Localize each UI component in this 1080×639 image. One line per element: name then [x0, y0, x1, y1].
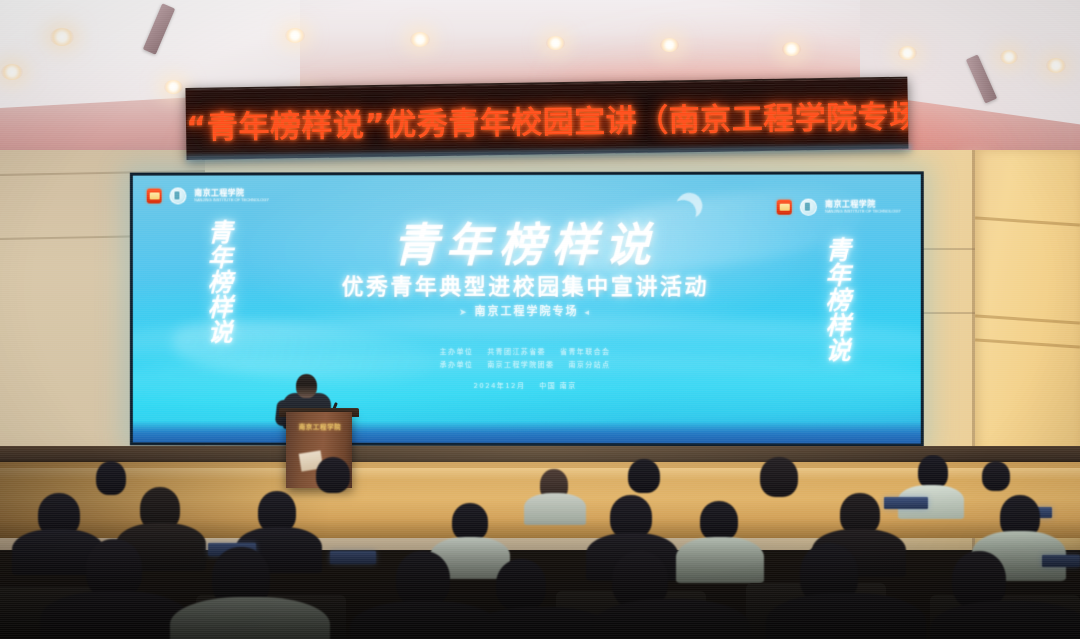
screen-venue-line: ➤南京工程学院专场◂: [133, 303, 921, 319]
organizer-value-2: 南京工程学院团委: [487, 361, 554, 369]
led-banner-text: “青年榜样说”优秀青年校园宣讲（南京工程学院专场）: [186, 91, 909, 147]
organizer-label-2: 承办单位: [440, 361, 474, 369]
audience-shoulder: [40, 591, 190, 639]
audience-head: [396, 551, 450, 607]
audience-head: [700, 501, 738, 541]
audience-area: [0, 455, 1080, 639]
screen-venue-text: 南京工程学院专场: [475, 305, 579, 318]
wall-panel-seam: [918, 248, 978, 250]
screen-organizer-line-2: 承办单位南京工程学院团委南京分站点: [133, 360, 921, 371]
audience-head: [628, 459, 660, 493]
organizer-value-1c: 省青年联合会: [560, 348, 610, 356]
ceiling-downlight: [50, 28, 74, 46]
audience-head: [316, 457, 350, 493]
screen-date-line: 2024年12月中国 南京: [133, 381, 921, 392]
audience-shoulder: [170, 597, 330, 639]
event-date: 2024年12月: [473, 382, 525, 390]
podium-nameplate: 南京工程学院: [296, 422, 344, 432]
youth-league-emblem-icon: [147, 189, 162, 204]
audience-head: [96, 461, 126, 495]
audience-laptop: [1042, 555, 1080, 567]
university-wordmark: 南京工程学院 NANJING INSTITUTE OF TECHNOLOGY: [194, 190, 269, 203]
audience-shoulder: [766, 593, 926, 639]
organizer-label-1: 主办单位: [440, 348, 474, 356]
lecture-hall-scene: “青年榜样说”优秀青年校园宣讲（南京工程学院专场） 南京工程学院 NANJING…: [0, 0, 1080, 639]
speaker-head: [296, 374, 317, 398]
ceiling-downlight: [1046, 58, 1066, 73]
organizer-value-2c: 南京分站点: [568, 361, 610, 369]
ceiling-downlight: [410, 32, 430, 47]
ceiling-downlight: [546, 36, 565, 50]
ceiling-downlight: [1000, 50, 1018, 64]
arrow-left-icon: ➤: [453, 308, 475, 318]
ceiling-downlight: [782, 42, 801, 56]
audience-laptop: [884, 497, 928, 509]
ceiling-downlight: [898, 46, 917, 60]
ceiling-downlight: [285, 28, 305, 43]
university-seal-icon: [170, 187, 187, 204]
audience-head: [86, 539, 142, 599]
wall-panel-seam: [975, 216, 1080, 226]
audience-shoulder: [676, 537, 764, 583]
organizer-value-1: 共青团江苏省委: [487, 348, 546, 356]
screen-logo-left: 南京工程学院 NANJING INSTITUTE OF TECHNOLOGY: [147, 187, 269, 204]
main-led-screen-frame: 南京工程学院 NANJING INSTITUTE OF TECHNOLOGY 南…: [130, 171, 924, 446]
audience-laptop: [330, 551, 376, 564]
wall-panel-seam: [975, 314, 1080, 324]
ceiling-downlight: [1, 64, 23, 80]
audience-head: [452, 503, 488, 541]
screen-main-title: 青年榜样说: [133, 209, 921, 276]
ceiling-downlight: [164, 80, 183, 94]
main-led-screen: 南京工程学院 NANJING INSTITUTE OF TECHNOLOGY 南…: [133, 174, 921, 443]
audience-shoulder: [524, 493, 586, 525]
audience-shoulder: [592, 599, 750, 639]
arrow-right-icon: ◂: [579, 308, 598, 318]
university-wordmark-subtext: NANJING INSTITUTE OF TECHNOLOGY: [194, 198, 269, 202]
screen-organizer-line-1: 主办单位共青团江苏省委省青年联合会: [133, 347, 921, 357]
wall-panel-seam: [975, 338, 1080, 348]
ceiling-downlight: [660, 38, 679, 52]
screen-bottom-band: [133, 420, 921, 443]
audience-head: [496, 559, 546, 611]
wall-panel-seam: [918, 312, 978, 314]
audience-head: [982, 461, 1010, 491]
event-location: 中国 南京: [539, 382, 576, 390]
audience-head: [918, 455, 948, 489]
university-wordmark-text: 南京工程学院: [194, 189, 244, 198]
university-wordmark-text: 南京工程学院: [825, 200, 876, 209]
screen-subtitle: 优秀青年典型进校园集中宣讲活动: [133, 269, 921, 301]
audience-head: [760, 457, 798, 497]
